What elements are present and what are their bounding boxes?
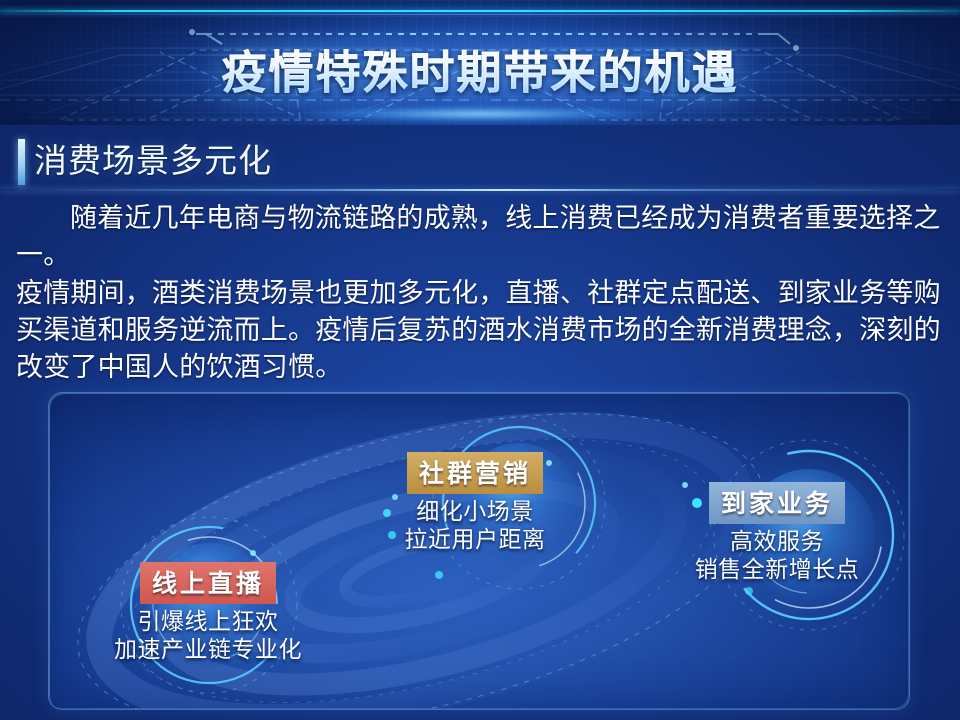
node-badge-live: 线上直播 — [140, 562, 276, 604]
node-line: 细化小场景 — [370, 498, 580, 526]
subtitle-accent-bar — [18, 139, 25, 185]
header-accent-line — [0, 10, 960, 12]
node-line: 销售全新增长点 — [662, 556, 892, 584]
header-accent-line-secondary — [0, 14, 960, 15]
diagram-node-live[interactable]: 线上直播 引爆线上狂欢 加速产业链专业化 — [88, 562, 328, 663]
diagram-node-social[interactable]: 社群营销 细化小场景 拉近用户距离 — [370, 452, 580, 553]
node-line: 高效服务 — [662, 528, 892, 556]
body-text: 随着近几年电商与物流链路的成熟，线上消费已经成为消费者重要选择之一。 疫情期间，… — [16, 200, 946, 386]
section-divider — [0, 189, 960, 191]
node-badge-social: 社群营销 — [407, 452, 543, 494]
page-title: 疫情特殊时期带来的机遇 — [221, 36, 738, 101]
node-badge-home: 到家业务 — [709, 482, 845, 524]
node-lines-home: 高效服务 销售全新增长点 — [662, 528, 892, 583]
header-banner: 疫情特殊时期带来的机遇 — [0, 0, 960, 125]
node-line: 加速产业链专业化 — [88, 636, 328, 664]
slide-root: 疫情特殊时期带来的机遇 消费场景多元化 随着近几年电商与物流链路的成熟，线上消费… — [0, 0, 960, 720]
section-subtitle-row: 消费场景多元化 — [0, 136, 960, 188]
page-title-wrapper: 疫情特殊时期带来的机遇 — [0, 36, 960, 101]
node-line: 拉近用户距离 — [370, 526, 580, 554]
section-subtitle: 消费场景多元化 — [34, 134, 272, 182]
node-line: 引爆线上狂欢 — [88, 608, 328, 636]
diagram-node-home[interactable]: 到家业务 高效服务 销售全新增长点 — [662, 482, 892, 583]
body-paragraph-1: 随着近几年电商与物流链路的成熟，线上消费已经成为消费者重要选择之一。 — [16, 200, 946, 275]
title-glow — [300, 106, 660, 122]
node-lines-social: 细化小场景 拉近用户距离 — [370, 498, 580, 553]
node-lines-live: 引爆线上狂欢 加速产业链专业化 — [88, 608, 328, 663]
body-paragraph-2: 疫情期间，酒类消费场景也更加多元化，直播、社群定点配送、到家业务等购买渠道和服务… — [16, 275, 946, 387]
